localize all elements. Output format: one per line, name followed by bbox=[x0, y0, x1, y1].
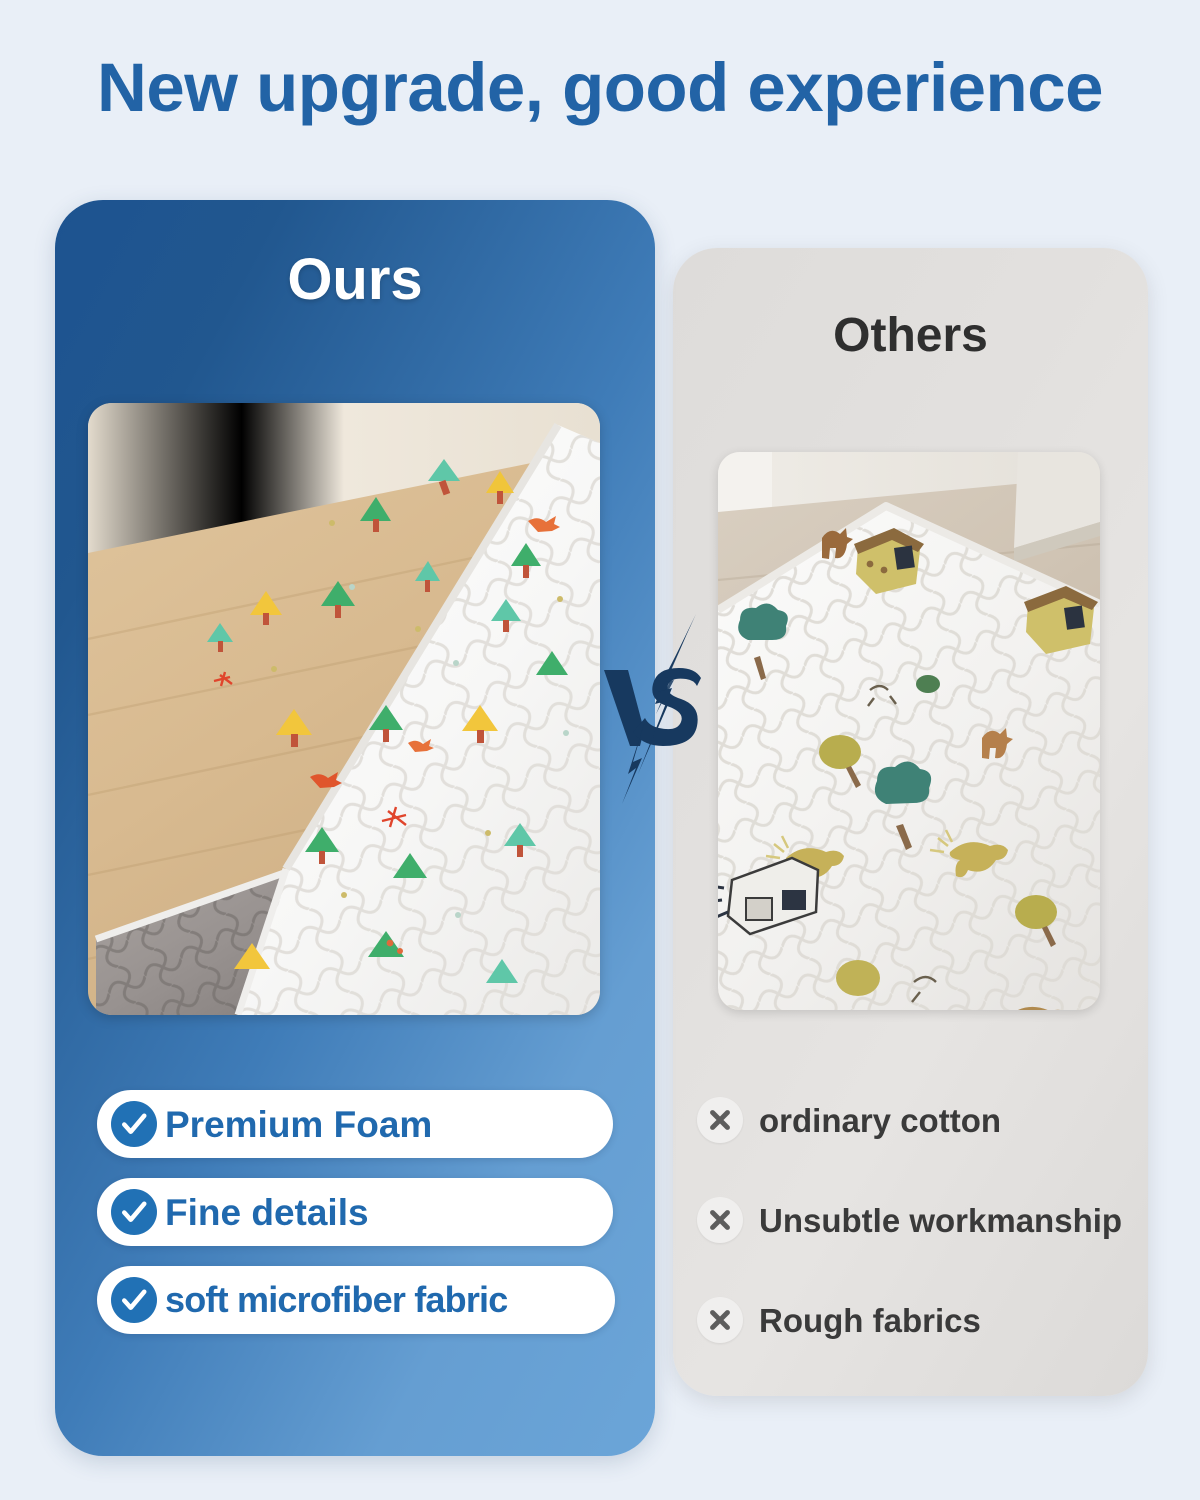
feature-pill-premium-foam[interactable]: Premium Foam bbox=[97, 1090, 613, 1158]
ours-product-photo bbox=[88, 403, 600, 1015]
others-heading: Others bbox=[673, 308, 1148, 363]
feature-label: Premium Foam bbox=[165, 1106, 432, 1143]
drawback-item-ordinary-cotton[interactable]: ordinary cotton bbox=[697, 1087, 1137, 1153]
drawback-item-unsubtle-workmanship[interactable]: Unsubtle workmanship bbox=[697, 1187, 1137, 1253]
drawback-label: ordinary cotton bbox=[759, 1104, 1001, 1137]
check-circle-icon bbox=[111, 1101, 157, 1147]
comparison-section: Ours bbox=[0, 0, 1200, 1500]
feature-label: Fine details bbox=[165, 1194, 369, 1231]
feature-pill-soft-microfiber-fabric[interactable]: soft microfiber fabric bbox=[97, 1266, 615, 1334]
drawback-label: Rough fabrics bbox=[759, 1304, 981, 1337]
check-circle-icon bbox=[111, 1189, 157, 1235]
ours-feature-list: Premium Foam Fine details soft microfibe… bbox=[97, 1090, 617, 1354]
x-circle-icon bbox=[697, 1297, 743, 1343]
ours-heading: Ours bbox=[55, 246, 655, 313]
others-drawback-list: ordinary cotton Unsubtle workmanship Rou… bbox=[697, 1087, 1137, 1387]
x-circle-icon bbox=[697, 1197, 743, 1243]
others-product-photo bbox=[718, 452, 1100, 1010]
x-circle-icon bbox=[697, 1097, 743, 1143]
vs-badge bbox=[600, 608, 718, 804]
feature-label: soft microfiber fabric bbox=[165, 1282, 507, 1318]
drawback-item-rough-fabrics[interactable]: Rough fabrics bbox=[697, 1287, 1137, 1353]
feature-pill-fine-details[interactable]: Fine details bbox=[97, 1178, 613, 1246]
drawback-label: Unsubtle workmanship bbox=[759, 1204, 1122, 1237]
check-circle-icon bbox=[111, 1277, 157, 1323]
